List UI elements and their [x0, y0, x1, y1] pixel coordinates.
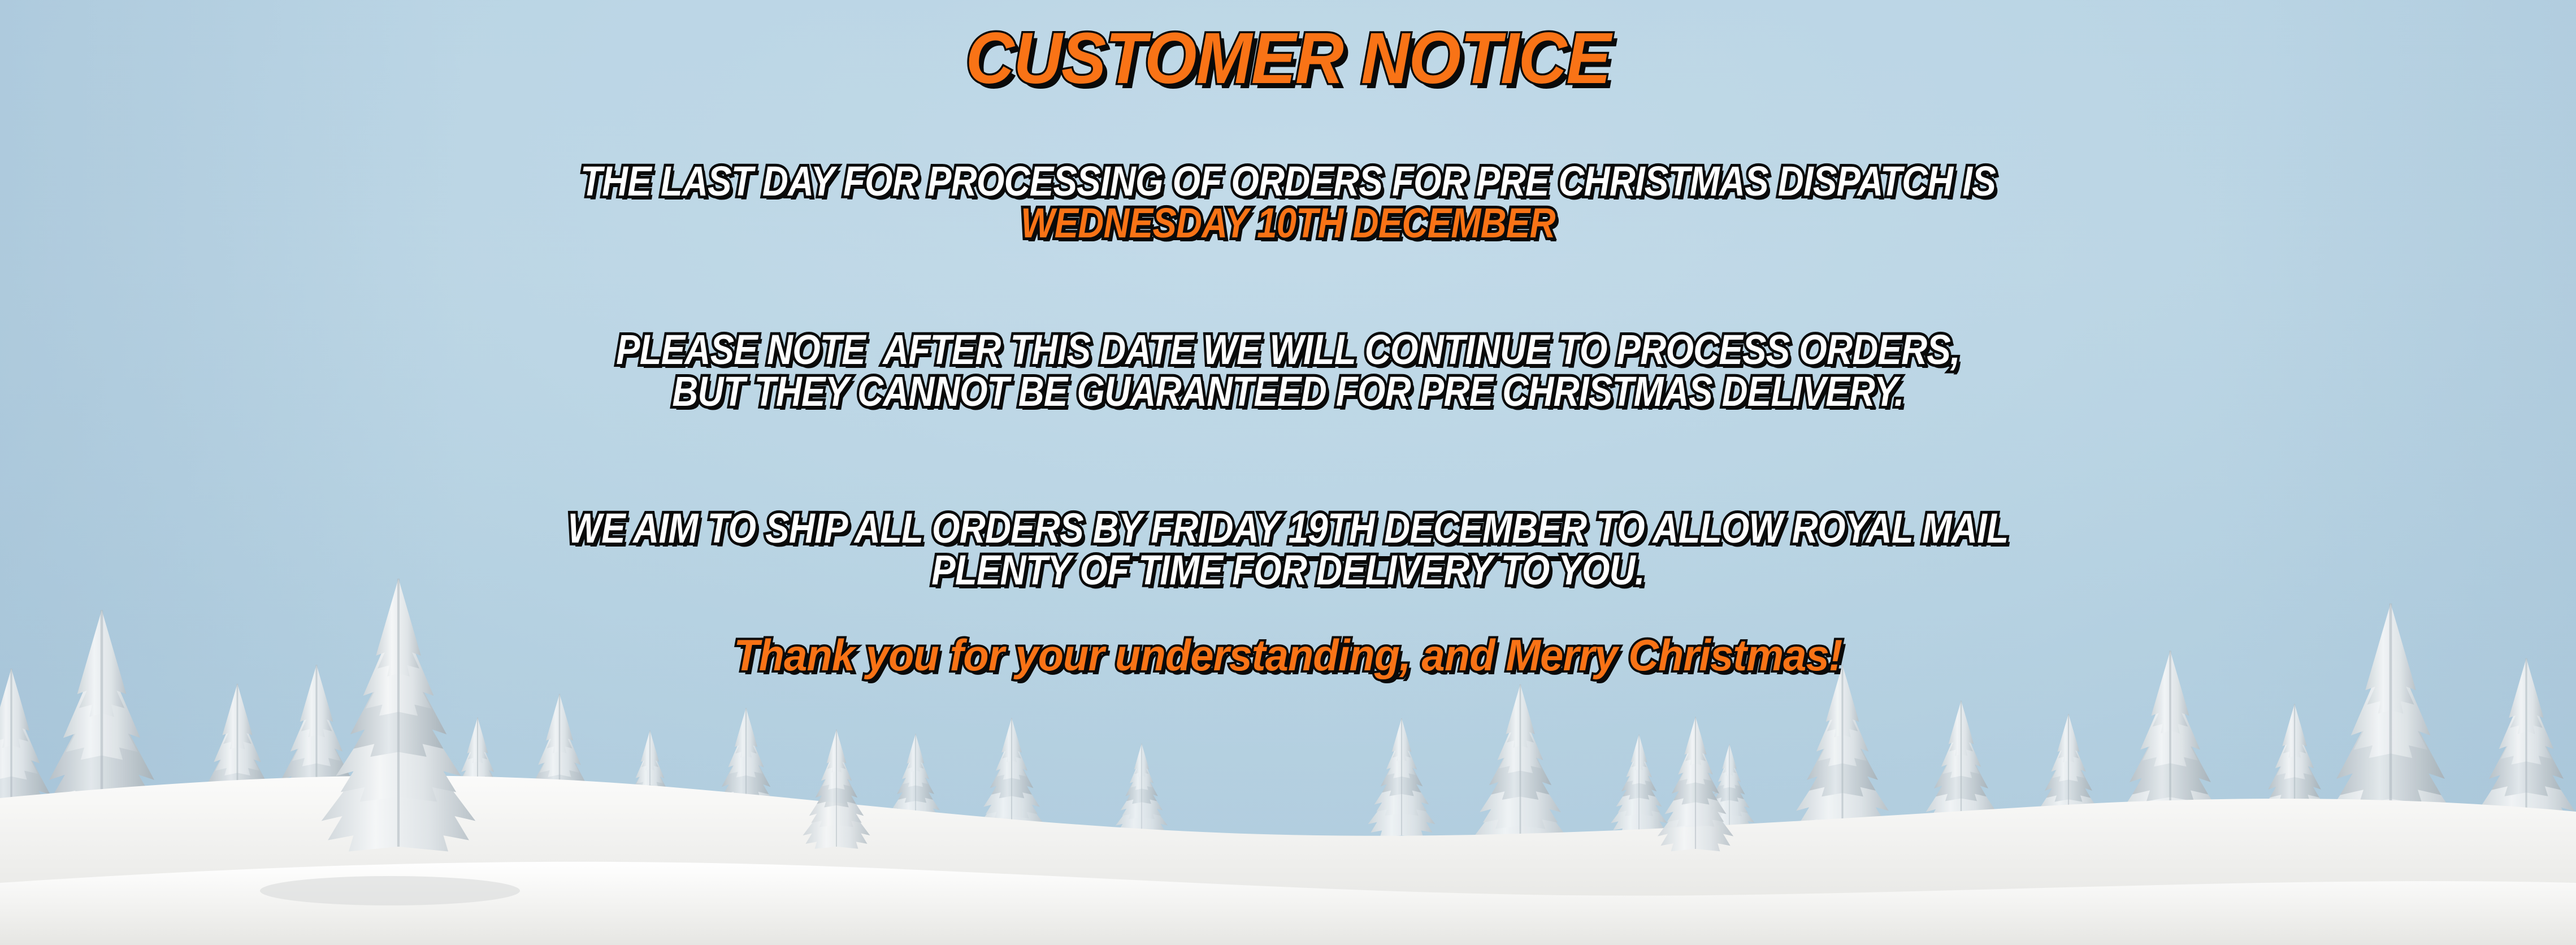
page-title: CUSTOMER NOTICE [90, 23, 2486, 95]
note-line-2: BUT THEY CANNOT BE GUARANTEED FOR PRE CH… [180, 371, 2396, 413]
deadline-date: WEDNESDAY 10TH DECEMBER [180, 202, 2396, 244]
deadline-line-1: THE LAST DAY FOR PROCESSING OF ORDERS FO… [180, 161, 2396, 202]
closing-message: Thank you for your understanding, and Me… [64, 633, 2512, 677]
notice-text-block: CUSTOMER NOTICE THE LAST DAY FOR PROCESS… [0, 0, 2576, 945]
customer-notice-banner: CUSTOMER NOTICE THE LAST DAY FOR PROCESS… [0, 0, 2576, 945]
ship-line-1-pre: WE AIM TO SHIP ALL ORDERS [568, 505, 1093, 552]
note-line-1: PLEASE NOTE AFTER THIS DATE WE WILL CONT… [180, 329, 2396, 371]
ship-line-1-post: TO ALLOW ROYAL MAIL [1586, 505, 2008, 552]
ship-line-1: WE AIM TO SHIP ALL ORDERS BY FRIDAY 19TH… [180, 508, 2396, 549]
ship-line-2: PLENTY OF TIME FOR DELIVERY TO YOU. [180, 549, 2396, 591]
